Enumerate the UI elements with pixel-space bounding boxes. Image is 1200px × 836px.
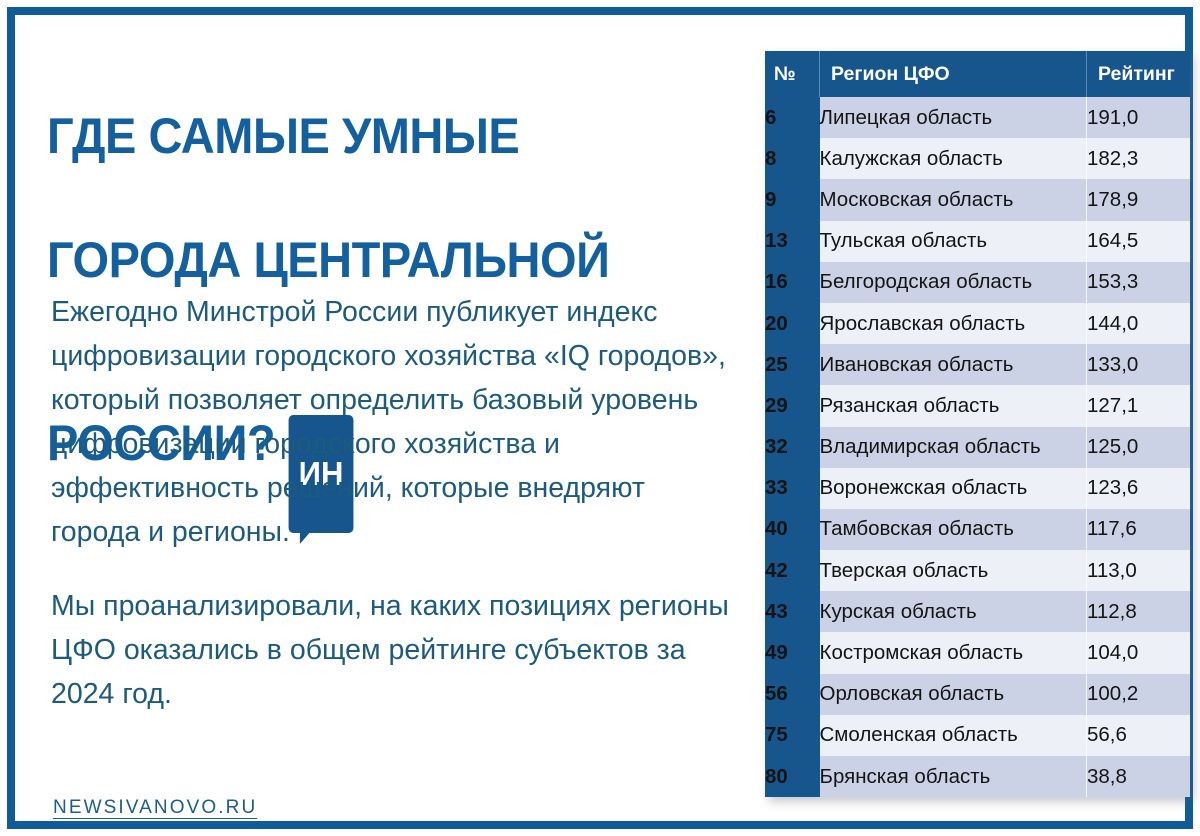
cell-region-name: Тверская область xyxy=(820,550,1087,591)
cell-region-name: Курская область xyxy=(820,591,1087,632)
cell-region-name: Московская область xyxy=(820,179,1087,220)
cell-rank-number: 80 xyxy=(765,756,820,797)
cell-region-name: Рязанская область xyxy=(820,385,1087,426)
table-row: 56Орловская область100,2 xyxy=(765,674,1190,715)
cell-rating-value: 144,0 xyxy=(1087,303,1191,344)
cell-rating-value: 38,8 xyxy=(1087,756,1191,797)
paragraph-2: Мы проанализировали, на каких позициях р… xyxy=(51,584,741,716)
cell-rank-number: 9 xyxy=(765,179,820,220)
table-body: 6Липецкая область191,08Калужская область… xyxy=(765,97,1190,797)
cell-region-name: Брянская область xyxy=(820,756,1087,797)
table-row: 25Ивановская область133,0 xyxy=(765,344,1190,385)
cell-rank-number: 43 xyxy=(765,591,820,632)
table-row: 49Костромская область104,0 xyxy=(765,632,1190,673)
cell-region-name: Тульская область xyxy=(820,221,1087,262)
cell-rating-value: 123,6 xyxy=(1087,468,1191,509)
cell-region-name: Орловская область xyxy=(820,674,1087,715)
table-row: 80Брянская область38,8 xyxy=(765,756,1190,797)
cell-rank-number: 25 xyxy=(765,344,820,385)
paragraph-1: Ежегодно Минстрой России публикует индек… xyxy=(51,290,741,554)
cell-rank-number: 56 xyxy=(765,674,820,715)
table-row: 33Воронежская область123,6 xyxy=(765,468,1190,509)
table-row: 8Калужская область182,3 xyxy=(765,138,1190,179)
cell-rating-value: 56,6 xyxy=(1087,715,1191,756)
cell-region-name: Ярославская область xyxy=(820,303,1087,344)
cell-rank-number: 8 xyxy=(765,138,820,179)
cell-rank-number: 13 xyxy=(765,221,820,262)
headline-line-1: ГДЕ САМЫЕ УМНЫЕ xyxy=(47,105,696,167)
cell-rank-number: 29 xyxy=(765,385,820,426)
cell-rating-value: 113,0 xyxy=(1087,550,1191,591)
cell-rating-value: 127,1 xyxy=(1087,385,1191,426)
cell-region-name: Костромская область xyxy=(820,632,1087,673)
cell-rating-value: 182,3 xyxy=(1087,138,1191,179)
poster-border-frame: ГДЕ САМЫЕ УМНЫЕ ГОРОДА ЦЕНТРАЛЬНОЙ РОССИ… xyxy=(7,7,1193,829)
cell-rating-value: 125,0 xyxy=(1087,427,1191,468)
cell-rank-number: 40 xyxy=(765,509,820,550)
site-url-link[interactable]: NEWSIVANOVO.RU xyxy=(53,797,257,819)
table-header: № Регион ЦФО Рейтинг xyxy=(765,51,1190,97)
table-row: 42Тверская область113,0 xyxy=(765,550,1190,591)
table-row: 20Ярославская область144,0 xyxy=(765,303,1190,344)
infographic-poster: ГДЕ САМЫЕ УМНЫЕ ГОРОДА ЦЕНТРАЛЬНОЙ РОССИ… xyxy=(0,0,1200,836)
cell-rating-value: 112,8 xyxy=(1087,591,1191,632)
cell-region-name: Воронежская область xyxy=(820,468,1087,509)
column-header-region: Регион ЦФО xyxy=(820,51,1087,97)
table-row: 32Владимирская область125,0 xyxy=(765,427,1190,468)
body-copy: Ежегодно Минстрой России публикует индек… xyxy=(51,290,741,716)
cell-rating-value: 117,6 xyxy=(1087,509,1191,550)
column-header-number: № xyxy=(765,51,820,97)
cell-rating-value: 191,0 xyxy=(1087,97,1191,138)
table-row: 9Московская область178,9 xyxy=(765,179,1190,220)
table-header-row: № Регион ЦФО Рейтинг xyxy=(765,51,1190,97)
cell-rank-number: 33 xyxy=(765,468,820,509)
cell-region-name: Липецкая область xyxy=(820,97,1087,138)
table-row: 40Тамбовская область117,6 xyxy=(765,509,1190,550)
cell-region-name: Владимирская область xyxy=(820,427,1087,468)
rating-table-container: № Регион ЦФО Рейтинг 6Липецкая область19… xyxy=(765,51,1157,797)
cell-rating-value: 133,0 xyxy=(1087,344,1191,385)
cell-rank-number: 16 xyxy=(765,262,820,303)
cell-region-name: Калужская область xyxy=(820,138,1087,179)
cell-region-name: Смоленская область xyxy=(820,715,1087,756)
table-row: 16Белгородская область153,3 xyxy=(765,262,1190,303)
column-header-rating: Рейтинг xyxy=(1087,51,1191,97)
table-row: 29Рязанская область127,1 xyxy=(765,385,1190,426)
poster-inner-canvas: ГДЕ САМЫЕ УМНЫЕ ГОРОДА ЦЕНТРАЛЬНОЙ РОССИ… xyxy=(15,15,1185,821)
cell-rating-value: 104,0 xyxy=(1087,632,1191,673)
rating-table: № Регион ЦФО Рейтинг 6Липецкая область19… xyxy=(765,51,1190,797)
cell-region-name: Белгородская область xyxy=(820,262,1087,303)
cell-rating-value: 100,2 xyxy=(1087,674,1191,715)
cell-rating-value: 153,3 xyxy=(1087,262,1191,303)
table-row: 6Липецкая область191,0 xyxy=(765,97,1190,138)
cell-rank-number: 75 xyxy=(765,715,820,756)
cell-region-name: Ивановская область xyxy=(820,344,1087,385)
headline-line-2: ГОРОДА ЦЕНТРАЛЬНОЙ xyxy=(47,229,696,291)
cell-region-name: Тамбовская область xyxy=(820,509,1087,550)
cell-rank-number: 20 xyxy=(765,303,820,344)
cell-rating-value: 178,9 xyxy=(1087,179,1191,220)
cell-rank-number: 42 xyxy=(765,550,820,591)
cell-rank-number: 32 xyxy=(765,427,820,468)
table-row: 13Тульская область164,5 xyxy=(765,221,1190,262)
cell-rank-number: 6 xyxy=(765,97,820,138)
cell-rating-value: 164,5 xyxy=(1087,221,1191,262)
table-row: 43Курская область112,8 xyxy=(765,591,1190,632)
table-row: 75Смоленская область56,6 xyxy=(765,715,1190,756)
cell-rank-number: 49 xyxy=(765,632,820,673)
